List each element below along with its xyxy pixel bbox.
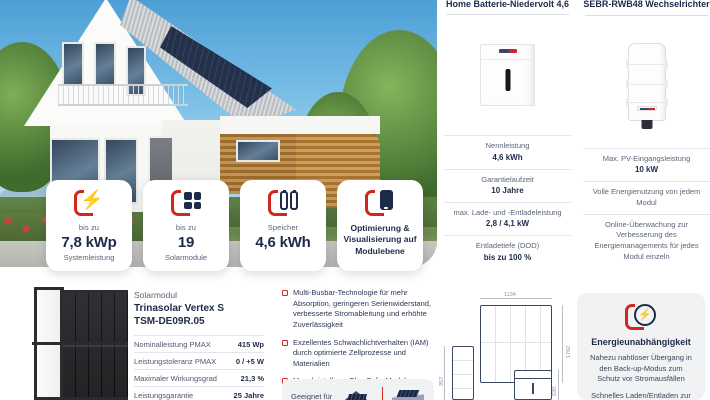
technical-dimension-drawing: 1134 1762 957 630	[452, 288, 570, 400]
table-row: Leistungsgarantie 25 Jahre	[134, 386, 264, 400]
solar-module-details: Solarmodul Trinasolar Vertex S TSM-DE09R…	[134, 290, 264, 400]
dimension-label-width: 1134	[504, 292, 516, 298]
battery-icon	[268, 190, 298, 216]
table-row: Maximaler Wirkungsgrad 21,3 %	[134, 369, 264, 386]
independence-title: Energieunabhängigkeit	[588, 337, 694, 347]
battery-product-image	[444, 15, 571, 136]
independence-paragraph-1: Nahezu nahtloser Übergang in den Back-up…	[588, 353, 694, 385]
card-value: 19	[178, 234, 194, 251]
card-eyebrow: bis zu	[176, 223, 196, 232]
spec-value: bis zu 100 %	[446, 253, 569, 263]
spec-value: 21,3 %	[241, 374, 264, 383]
spec-key: Leistungstoleranz PMAX	[134, 357, 216, 366]
spec-key: Volle Energienutzung von jedem Modul	[585, 187, 708, 209]
window-upper-left	[62, 42, 84, 86]
bullet-text: Exzellentes Schwachlichtverhalten (IAM) …	[293, 338, 434, 370]
table-row: Nominalleistung PMAX 415 Wp	[134, 335, 264, 352]
spec-key: Nennleistung	[446, 141, 569, 151]
spec-key: Garantielaufzeit	[446, 175, 569, 185]
spec-key: Maximaler Wirkungsgrad	[134, 374, 217, 383]
card-eyebrow: bis zu	[79, 223, 99, 232]
spec-row: Online-Überwachung zur Verbesserung des …	[583, 214, 710, 269]
dimension-line-inverter	[558, 370, 559, 400]
card-multiline-label: Optimierung & Visualisierung auf Moduleb…	[343, 223, 417, 257]
module-name-line1: Trinasolar Vertex S	[134, 303, 264, 316]
spec-row: Garantielaufzeit 10 Jahre	[444, 169, 571, 202]
spec-value: 10 kW	[585, 165, 708, 175]
dimension-line-panel	[444, 346, 445, 400]
suitable-roof-types-box: Geeignet für	[282, 379, 434, 400]
spec-row: Entladetiefe (DOD) bis zu 100 %	[444, 235, 571, 268]
solar-grid-icon	[171, 190, 201, 216]
bolt-icon: ⚡	[74, 190, 104, 216]
spec-row: Max. PV-Eingangsleistung 10 kW	[583, 148, 710, 181]
energy-independence-card[interactable]: Energieunabhängigkeit Nahezu nahtloser Ü…	[577, 293, 705, 400]
drawing-battery-outline	[452, 346, 474, 400]
divider	[382, 387, 383, 400]
dimension-label-height: 1762	[566, 346, 572, 358]
product-column-inverter: SEBR-RWB48 Wechselrichter Max. PV-Eingan…	[583, 0, 710, 268]
balcony-railing	[58, 84, 188, 106]
spec-value: 2,8 / 4,1 kW	[446, 219, 569, 229]
inverter-title: SEBR-RWB48 Wechselrichter	[583, 0, 710, 11]
window-carport	[236, 140, 280, 162]
battery-title: Home Batterie-Niedervolt 4,6	[444, 0, 571, 10]
spec-value: 4,6 kWh	[446, 153, 569, 163]
card-eyebrow: Speicher	[268, 223, 298, 232]
module-name-line2: TSM-DE09R.05	[134, 316, 264, 329]
feature-card-optimization[interactable]: Optimierung & Visualisierung auf Moduleb…	[337, 180, 423, 271]
bullet-square-icon	[282, 340, 288, 346]
card-value: 7,8 kWp	[61, 234, 116, 251]
phone-icon	[365, 190, 395, 216]
independence-paragraph-2: Schnelles Laden/Entladen zur problemlose…	[588, 391, 694, 400]
card-sublabel: Solarmodule	[165, 253, 207, 262]
dimension-line-height	[562, 305, 563, 383]
spec-row: Volle Energienutzung von jedem Modul	[583, 181, 710, 214]
spec-key: Online-Überwachung zur Verbesserung des …	[585, 220, 708, 264]
spec-row: Nennleistung 4,6 kWh	[444, 135, 571, 168]
inverter-product-image	[583, 16, 710, 148]
dimension-line-width	[480, 298, 552, 299]
spec-value: 10 Jahre	[446, 186, 569, 196]
module-front-view	[60, 290, 128, 400]
spec-value: 415 Wp	[238, 340, 264, 349]
drawing-inverter-outline	[514, 370, 552, 400]
module-frame-bar	[32, 342, 128, 345]
product-columns: Home Batterie-Niedervolt 4,6 Nennleistun…	[444, 0, 710, 268]
product-column-battery: Home Batterie-Niedervolt 4,6 Nennleistun…	[444, 0, 571, 268]
table-row: Leistungstoleranz PMAX 0 / +5 W	[134, 352, 264, 369]
spec-key: max. Lade- und -Entladeleistung	[446, 208, 569, 218]
spec-value: 0 / +5 W	[236, 357, 264, 366]
feature-card-storage[interactable]: Speicher 4,6 kWh	[240, 180, 326, 271]
spec-row: max. Lade- und -Entladeleistung 2,8 / 4,…	[444, 202, 571, 235]
module-spec-table: Nominalleistung PMAX 415 Wp Leistungstol…	[134, 335, 264, 400]
feature-card-module-count[interactable]: bis zu 19 Solarmodule	[143, 180, 229, 271]
bullet-text: Multi-Busbar-Technologie für mehr Absorp…	[293, 288, 434, 331]
carport-roof	[220, 116, 380, 134]
spec-key: Max. PV-Eingangsleistung	[585, 154, 708, 164]
spec-value: 25 Jahre	[234, 391, 264, 400]
dimension-label-inverter: 630	[552, 387, 558, 396]
energy-independence-icon	[624, 304, 658, 330]
feature-card-row: ⚡ bis zu 7,8 kWp Systemleistung bis zu 1…	[46, 180, 423, 271]
list-item: Multi-Busbar-Technologie für mehr Absorp…	[282, 288, 434, 331]
spec-key: Nominalleistung PMAX	[134, 340, 211, 349]
datasheet-page: ⚡ bis zu 7,8 kWp Systemleistung bis zu 1…	[0, 0, 710, 400]
spec-key: Entladetiefe (DOD)	[446, 241, 569, 251]
card-sublabel: Systemleistung	[64, 253, 115, 262]
flat-roof-icon	[392, 387, 424, 400]
card-value: 4,6 kWh	[255, 234, 310, 251]
list-item: Exzellentes Schwachlichtverhalten (IAM) …	[282, 338, 434, 370]
module-eyebrow: Solarmodul	[134, 290, 264, 300]
feature-card-system-power[interactable]: ⚡ bis zu 7,8 kWp Systemleistung	[46, 180, 132, 271]
spec-key: Leistungsgarantie	[134, 391, 193, 400]
suitable-label: Geeignet für	[291, 392, 332, 400]
window-upper-mid	[94, 42, 116, 86]
pitched-roof-icon	[341, 387, 373, 400]
bullet-square-icon	[282, 290, 288, 296]
solar-module-image	[16, 287, 128, 400]
dimension-label-panel: 957	[439, 377, 445, 386]
